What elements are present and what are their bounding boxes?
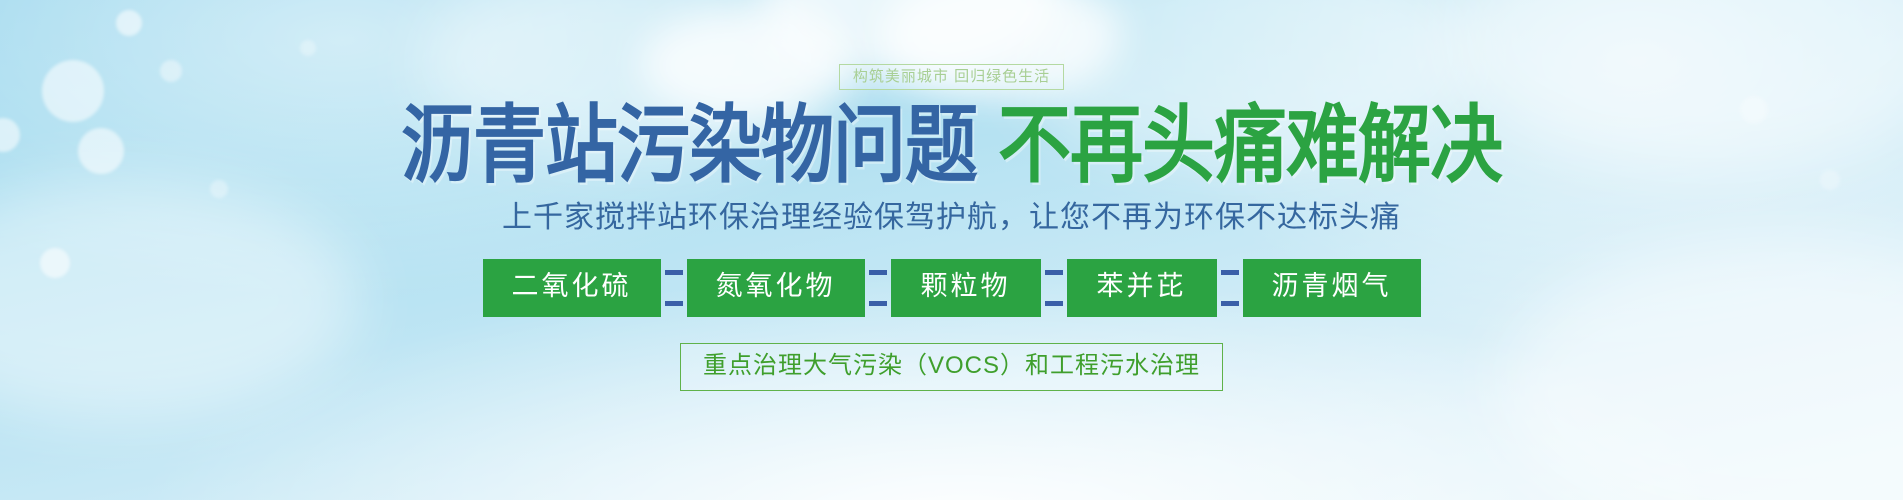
banner-subtitle: 上千家搅拌站环保治理经验保驾护航，让您不再为环保不达标头痛: [502, 203, 1401, 233]
headline-blue-text: 沥青站污染物问题: [401, 103, 977, 188]
pollutant-pill-particulates[interactable]: 颗粒物: [891, 259, 1041, 317]
pollutant-pill-sulfur-dioxide[interactable]: 二氧化硫: [483, 259, 661, 317]
pollutant-pill-row: 二氧化硫 氮氧化物 颗粒物 苯并芘 沥青烟气: [483, 259, 1421, 317]
hero-banner: 构筑美丽城市 回归绿色生活 沥青站污染物问题 不再头痛难解决 上千家搅拌站环保治…: [0, 0, 1903, 500]
pollutant-pill-benzopyrene[interactable]: 苯并芘: [1067, 259, 1217, 317]
pill-separator-dashes: [865, 259, 891, 317]
banner-headline: 沥青站污染物问题 不再头痛难解决: [401, 103, 1502, 188]
banner-content: 构筑美丽城市 回归绿色生活 沥青站污染物问题 不再头痛难解决 上千家搅拌站环保治…: [0, 0, 1903, 500]
pill-separator-dashes: [1217, 259, 1243, 317]
headline-green-text: 不再头痛难解决: [998, 103, 1502, 188]
pill-separator-dashes: [1041, 259, 1067, 317]
pollutant-pill-nitrogen-oxides[interactable]: 氮氧化物: [687, 259, 865, 317]
banner-tagline: 构筑美丽城市 回归绿色生活: [839, 64, 1064, 90]
banner-footnote: 重点治理大气污染（VOCS）和工程污水治理: [680, 343, 1223, 391]
pill-separator-dashes: [661, 259, 687, 317]
pollutant-pill-asphalt-fumes[interactable]: 沥青烟气: [1243, 259, 1421, 317]
